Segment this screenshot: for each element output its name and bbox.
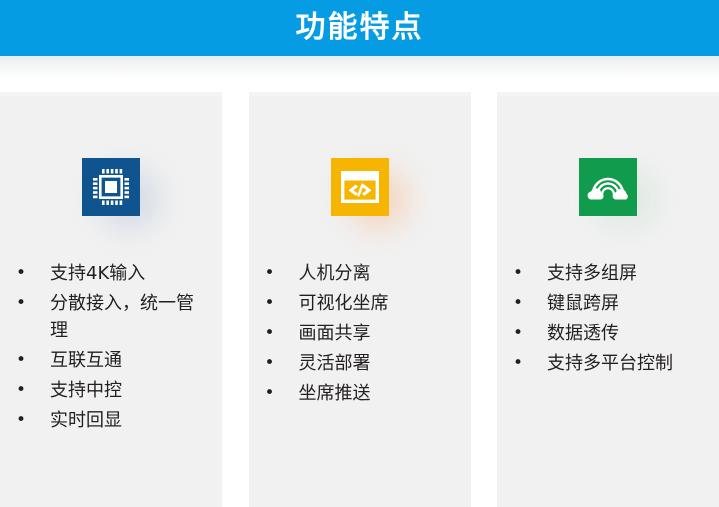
card-2-icon-area — [249, 158, 471, 220]
bullet-icon: • — [263, 350, 299, 377]
card-3-icon-area — [497, 158, 719, 220]
feature-label: 支持4K输入 — [50, 260, 208, 287]
feature-label: 互联互通 — [50, 347, 208, 374]
bullet-icon: • — [263, 320, 299, 347]
card-1-feature-list: • 支持4K输入 • 分散接入，统一管理 • 互联互通 • 支持中控 • 实时回… — [0, 260, 222, 437]
list-item: • 支持多平台控制 — [497, 350, 719, 377]
page-header: 功能特点 — [0, 0, 719, 56]
bullet-icon: • — [263, 380, 299, 407]
card-top-highlight — [0, 92, 222, 96]
feature-card-1[interactable]: • 支持4K输入 • 分散接入，统一管理 • 互联互通 • 支持中控 • 实时回… — [0, 92, 222, 507]
bullet-icon: • — [511, 320, 547, 347]
list-item: • 可视化坐席 — [249, 290, 471, 317]
feature-label: 可视化坐席 — [299, 290, 457, 317]
feature-label: 数据透传 — [547, 320, 705, 347]
bullet-icon: • — [14, 407, 50, 434]
card-3-feature-list: • 支持多组屏 • 键鼠跨屏 • 数据透传 • 支持多平台控制 — [497, 260, 719, 380]
bullet-icon: • — [263, 290, 299, 317]
chip-icon — [82, 158, 140, 216]
feature-cards-row: • 支持4K输入 • 分散接入，统一管理 • 互联互通 • 支持中控 • 实时回… — [0, 92, 719, 507]
page-title: 功能特点 — [296, 13, 424, 43]
feature-label: 人机分离 — [299, 260, 457, 287]
bullet-icon: • — [14, 260, 50, 287]
list-item: • 支持中控 — [0, 377, 222, 404]
bullet-icon: • — [511, 350, 547, 377]
feature-label: 分散接入，统一管理 — [50, 290, 208, 344]
feature-label: 键鼠跨屏 — [547, 290, 705, 317]
list-item: • 画面共享 — [249, 320, 471, 347]
list-item: • 坐席推送 — [249, 380, 471, 407]
feature-label: 灵活部署 — [299, 350, 457, 377]
list-item: • 实时回显 — [0, 407, 222, 434]
list-item: • 支持4K输入 — [0, 260, 222, 287]
rainbow-cloud-icon — [579, 158, 637, 216]
card-1-icon-area — [0, 158, 222, 220]
bullet-icon: • — [511, 290, 547, 317]
bullet-icon: • — [14, 377, 50, 404]
code-window-icon — [331, 158, 389, 216]
feature-label: 实时回显 — [50, 407, 208, 434]
list-item: • 支持多组屏 — [497, 260, 719, 287]
feature-label: 支持多平台控制 — [547, 350, 705, 377]
bullet-icon: • — [14, 290, 50, 317]
feature-label: 支持多组屏 — [547, 260, 705, 287]
list-item: • 键鼠跨屏 — [497, 290, 719, 317]
header-shadow — [0, 56, 719, 78]
list-item: • 数据透传 — [497, 320, 719, 347]
feature-card-2[interactable]: • 人机分离 • 可视化坐席 • 画面共享 • 灵活部署 • 坐席推送 — [249, 92, 471, 507]
feature-label: 画面共享 — [299, 320, 457, 347]
bullet-icon: • — [511, 260, 547, 287]
feature-label: 坐席推送 — [299, 380, 457, 407]
list-item: • 人机分离 — [249, 260, 471, 287]
bullet-icon: • — [14, 347, 50, 374]
card-top-highlight — [497, 92, 719, 96]
card-2-feature-list: • 人机分离 • 可视化坐席 • 画面共享 • 灵活部署 • 坐席推送 — [249, 260, 471, 410]
bullet-icon: • — [263, 260, 299, 287]
list-item: • 灵活部署 — [249, 350, 471, 377]
card-top-highlight — [249, 92, 471, 96]
list-item: • 分散接入，统一管理 — [0, 290, 222, 344]
feature-card-3[interactable]: • 支持多组屏 • 键鼠跨屏 • 数据透传 • 支持多平台控制 — [497, 92, 719, 507]
feature-label: 支持中控 — [50, 377, 208, 404]
list-item: • 互联互通 — [0, 347, 222, 374]
